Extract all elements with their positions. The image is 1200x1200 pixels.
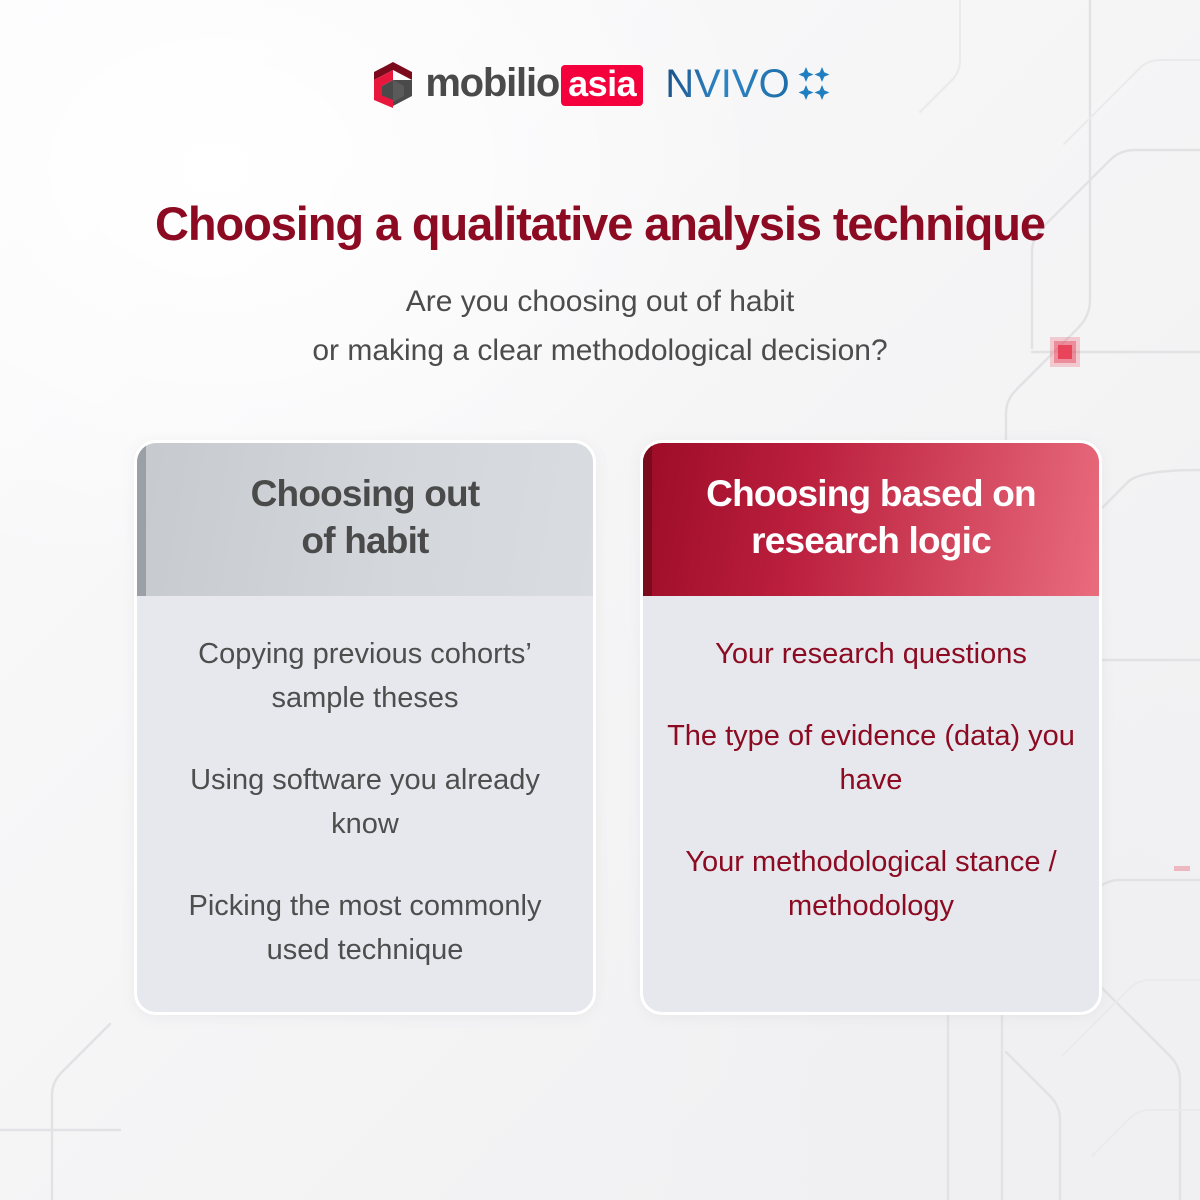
page-subtitle: Are you choosing out of habit or making … — [0, 278, 1200, 375]
card-logic-accent-bar — [643, 443, 652, 596]
list-item: Your methodological stance / methodology — [667, 840, 1075, 928]
card-logic-heading-line-1: Choosing based on — [706, 473, 1036, 514]
card-choosing-out-of-habit: Choosing out of habit Copying previous c… — [134, 440, 596, 1015]
card-habit-header: Choosing out of habit — [137, 443, 593, 596]
comparison-cards: Choosing out of habit Copying previous c… — [134, 440, 1102, 1015]
nvivo-logo[interactable]: NVIVO — [665, 64, 829, 104]
cube-logo-icon — [370, 60, 416, 108]
list-item: Using software you already know — [161, 758, 569, 846]
list-item: The type of evidence (data) you have — [667, 714, 1075, 802]
mobilio-wordmark: mobilio — [425, 61, 559, 105]
subtitle-line-2: or making a clear methodological decisio… — [0, 327, 1200, 376]
card-logic-header: Choosing based on research logic — [643, 443, 1099, 596]
list-item: Picking the most commonly used technique — [161, 884, 569, 972]
card-logic-heading: Choosing based on research logic — [706, 471, 1036, 564]
card-logic-heading-line-2: research logic — [751, 520, 991, 561]
card-habit-heading-line-2: of habit — [301, 520, 428, 561]
card-habit-heading: Choosing out of habit — [251, 471, 480, 564]
card-logic-body: Your research questions The type of evid… — [643, 596, 1099, 1012]
asia-wordmark: asia — [561, 65, 643, 106]
sparkles-icon — [796, 66, 830, 102]
card-habit-body: Copying previous cohorts’ sample theses … — [137, 596, 593, 1012]
card-habit-accent-bar — [137, 443, 146, 596]
mobilioasia-logo[interactable]: mobilioasia — [370, 60, 643, 108]
card-choosing-based-on-research-logic: Choosing based on research logic Your re… — [640, 440, 1102, 1015]
card-habit-heading-line-1: Choosing out — [251, 473, 480, 514]
page-title: Choosing a qualitative analysis techniqu… — [0, 196, 1200, 251]
list-item: Your research questions — [667, 632, 1075, 676]
nvivo-wordmark: NVIVO — [665, 64, 789, 104]
brand-logo-row: mobilioasia NVIVO — [0, 60, 1200, 108]
list-item: Copying previous cohorts’ sample theses — [161, 632, 569, 720]
subtitle-line-1: Are you choosing out of habit — [0, 278, 1200, 327]
